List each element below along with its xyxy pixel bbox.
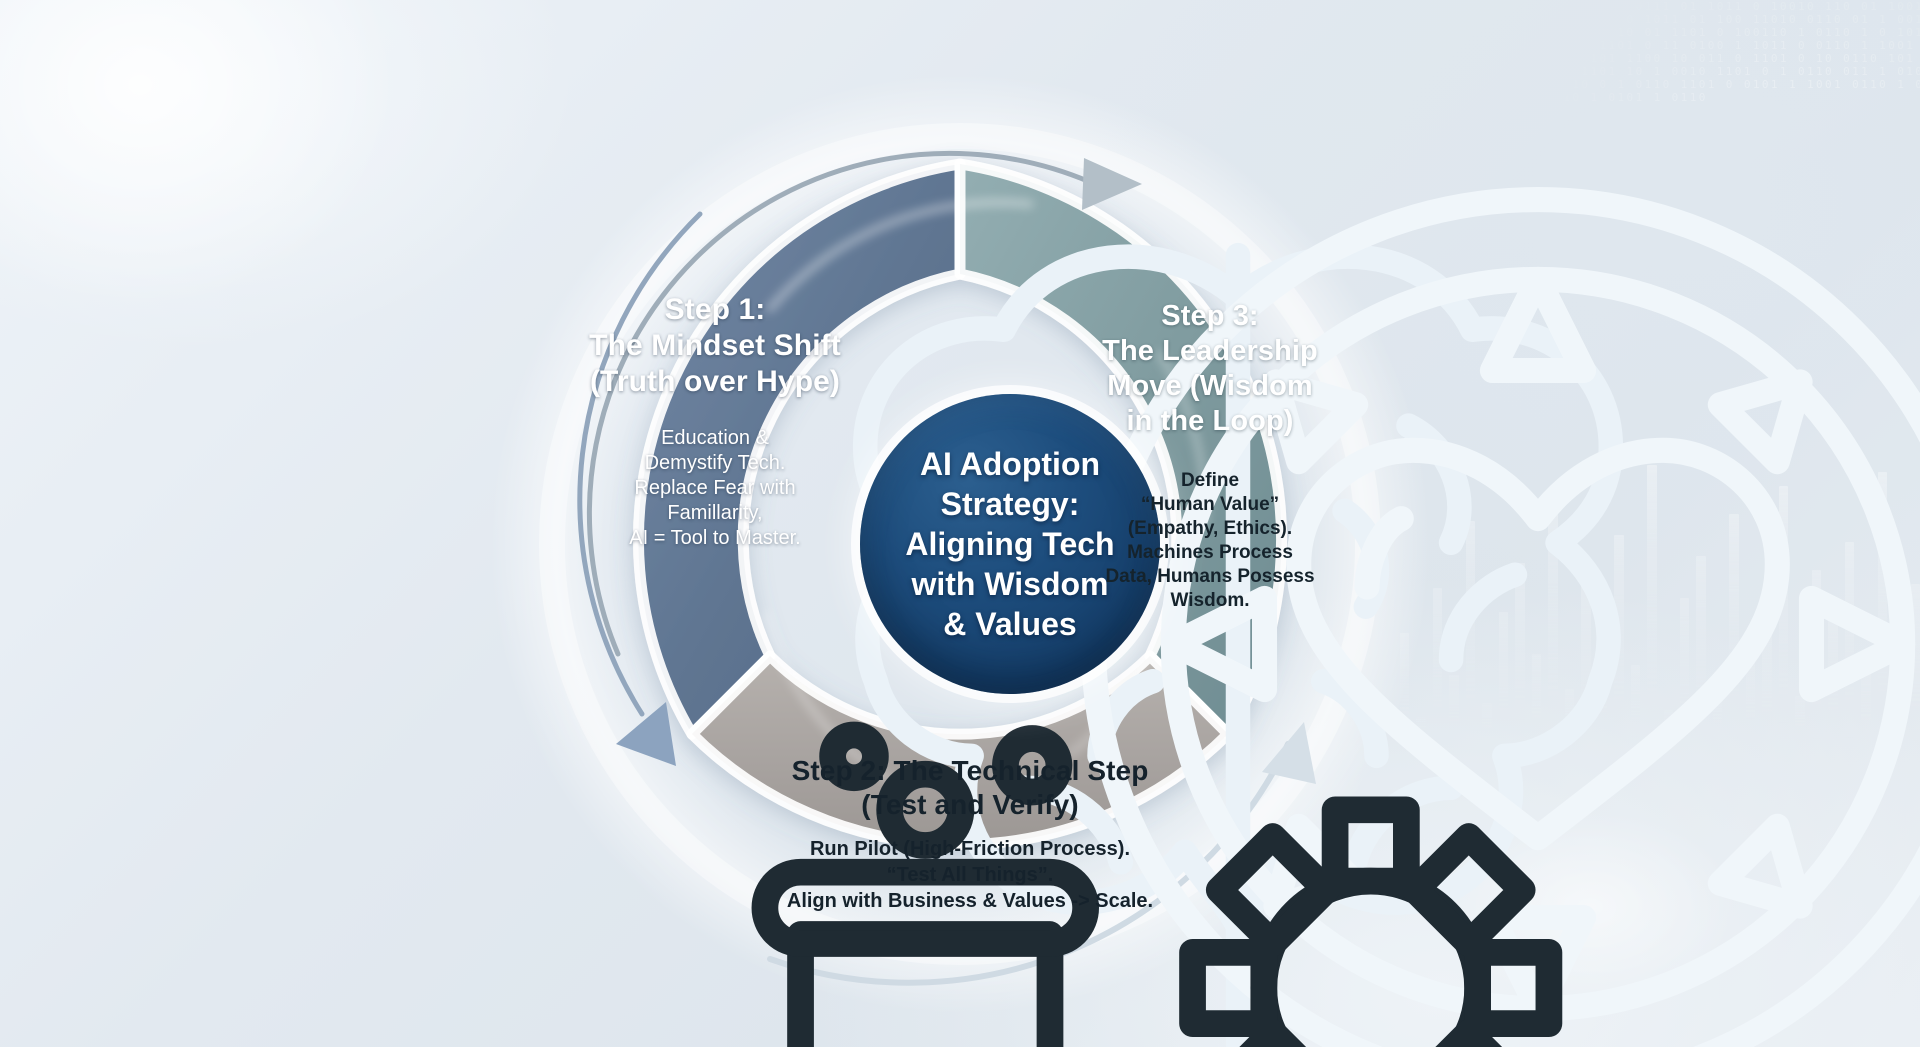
step-3-body-line-4: Machines Process [1127, 542, 1293, 563]
step-2-title: Step 2: The Technical Step (Test and Ver… [760, 754, 1180, 822]
center-line-2: Strategy: [941, 486, 1080, 522]
step-1-body-line-4: Famillarity, [667, 502, 762, 524]
step-1-title-line-3: (Truth over Hype) [590, 365, 840, 398]
center-line-5: & Values [943, 606, 1076, 642]
step-1-label[interactable]: Step 1: The Mindset Shift (Truth over Hy… [570, 292, 860, 551]
step-3-label[interactable]: Step 3: The Leadership Move (Wisdom in t… [1060, 299, 1360, 613]
step-1-body-line-2: Demystify Tech. [645, 452, 786, 474]
three-step-cycle-wheel: AI Adoption Strategy: Aligning Tech with… [470, 54, 1450, 1034]
step-2-title-line-1: Step 2: The Technical Step [792, 755, 1149, 786]
step-1-title: Step 1: The Mindset Shift (Truth over Hy… [570, 292, 860, 400]
step-3-title-line-2: The Leadership [1102, 335, 1318, 367]
step-3-body-line-6: Wisdom. [1171, 590, 1250, 611]
step-3-body-line-1: Define [1181, 470, 1239, 491]
step-2-body-line-2: “Test All Things”. [887, 864, 1054, 886]
step-2-body: Run Pilot (High-Friction Process). “Test… [760, 836, 1180, 914]
step-3-body-line-5: Data, Humans Possess [1105, 566, 1314, 587]
step-3-body-line-3: (Empathy, Ethics). [1128, 518, 1292, 539]
background-glow-top-left [0, 0, 400, 310]
step-2-title-line-2: (Test and Verify) [861, 789, 1078, 820]
step-3-body: Define “Human Value” (Empathy, Ethics). … [1060, 469, 1360, 613]
step-1-title-line-2: The Mindset Shift [589, 329, 841, 362]
diagram-canvas: 10110 01001 10 0110 1 0100111 01 1011 0 … [0, 0, 1920, 1047]
step-3-title-line-4: in the Loop) [1126, 405, 1293, 437]
step-1-title-line-1: Step 1: [665, 293, 766, 326]
step-2-body-line-1: Run Pilot (High-Friction Process). [810, 838, 1130, 860]
step-3-title-line-3: Move (Wisdom [1107, 370, 1313, 402]
step-1-body: Education & Demystify Tech. Replace Fear… [570, 426, 860, 551]
step-3-body-line-2: “Human Value” [1141, 494, 1279, 515]
step-1-body-line-1: Education & [661, 427, 769, 449]
step-2-label[interactable]: Step 2: The Technical Step (Test and Ver… [760, 754, 1180, 914]
step-3-title: Step 3: The Leadership Move (Wisdom in t… [1060, 299, 1360, 439]
step-1-body-line-3: Replace Fear with [634, 477, 795, 499]
step-2-body-line-3: Align with Business & Values -> Scale. [787, 890, 1153, 912]
step-1-body-line-5: AI = Tool to Master. [629, 527, 800, 549]
step-3-title-line-1: Step 3: [1161, 300, 1258, 332]
